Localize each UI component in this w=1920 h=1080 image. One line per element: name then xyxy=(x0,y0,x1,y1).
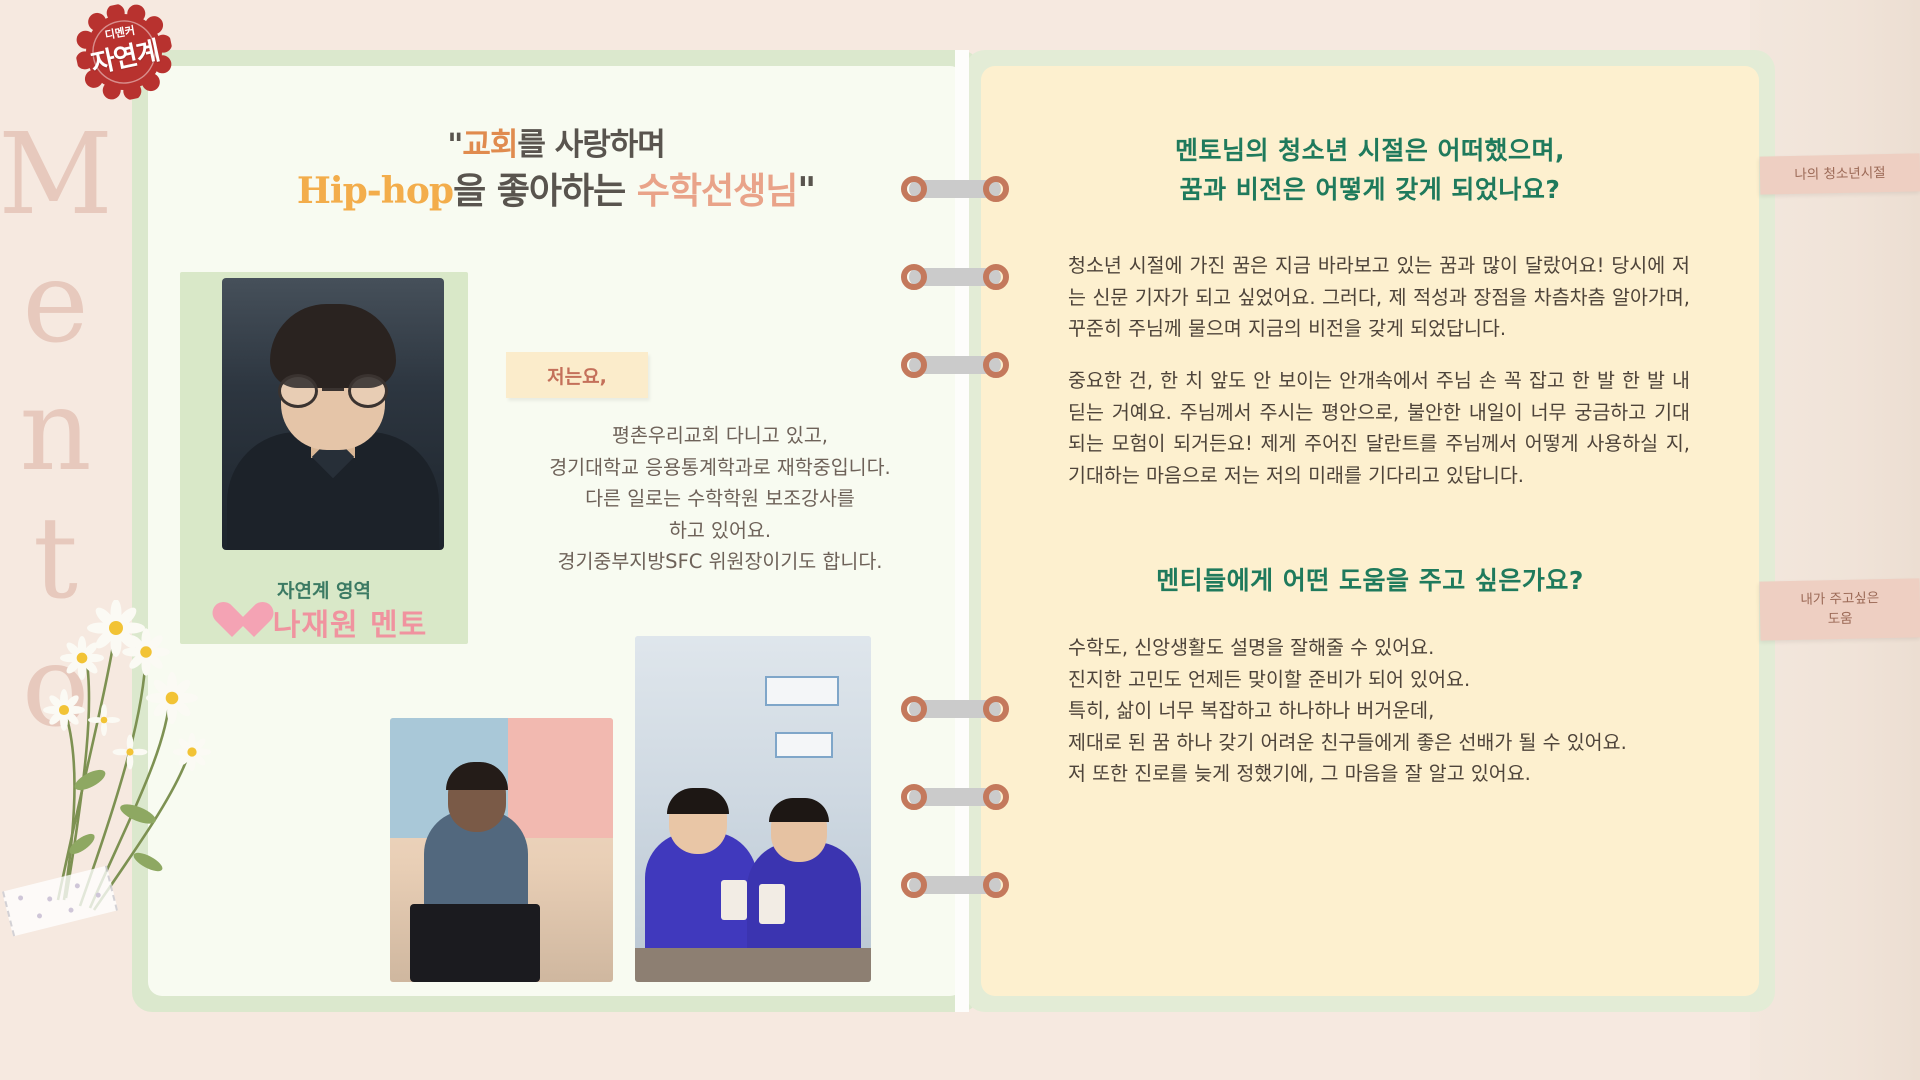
page-title: "교회를 사랑하며 Hip-hop을 좋아하는 수학선생님" xyxy=(148,125,964,215)
mentor-area-label: 자연계 영역 xyxy=(180,576,468,603)
title-quote-close: " xyxy=(797,170,815,212)
binding-ring xyxy=(901,872,1009,898)
answer-1-paragraph-2: 중요한 건, 한 치 앞도 안 보이는 안개속에서 주님 손 꼭 잡고 한 발 … xyxy=(1068,365,1690,491)
title-highlight-mathteacher: 수학선생님 xyxy=(637,170,798,212)
mentor-name: 나재원 멘토 xyxy=(273,600,427,644)
title-line1-rest: 를 사랑하며 xyxy=(517,127,664,163)
binding-ring xyxy=(901,352,1009,378)
question-1: 멘토님의 청소년 시절은 어떠했으며,꿈과 비전은 어떻게 갖게 되었나요? xyxy=(1000,132,1740,210)
activity-photo-group xyxy=(635,636,871,982)
binding-ring xyxy=(901,696,1009,722)
mentor-bio: 평촌우리교회 다니고 있고,경기대학교 응용통계학과로 재학중입니다.다른 일로… xyxy=(490,420,950,578)
title-quote-open: " xyxy=(447,127,462,163)
vertical-brand-word: Mento xyxy=(6,110,105,670)
title-line2-mid: 을 좋아하는 xyxy=(453,170,637,212)
side-tab-help[interactable]: 내가 주고싶은도움 xyxy=(1759,578,1920,640)
binding-ring xyxy=(901,784,1009,810)
glasses-icon xyxy=(348,374,388,408)
intro-badge: 저는요, xyxy=(506,352,648,398)
answer-2: 수학도, 신앙생활도 설명을 잘해줄 수 있어요.진지한 고민도 언제든 맞이할… xyxy=(1068,632,1690,790)
binding-ring xyxy=(901,176,1009,202)
answer-1-paragraph-1: 청소년 시절에 가진 꿈은 지금 바라보고 있는 꿈과 많이 달랐어요! 당시에… xyxy=(1068,250,1690,345)
side-tab-youth[interactable]: 나의 청소년시절 xyxy=(1760,153,1920,195)
mentor-portrait-photo xyxy=(222,278,444,550)
title-highlight-church: 교회 xyxy=(462,127,517,163)
seal-badge: 디멘커 자연계 xyxy=(67,0,181,109)
activity-photo-singing xyxy=(390,718,613,982)
poster-canvas: Mento 디멘커 자연계 xyxy=(0,0,1920,1080)
question-2: 멘티들에게 어떤 도움을 주고 싶은가요? xyxy=(1000,562,1740,601)
glasses-icon xyxy=(278,374,318,408)
binding-ring xyxy=(901,264,1009,290)
title-highlight-hiphop: Hip-hop xyxy=(297,170,453,212)
